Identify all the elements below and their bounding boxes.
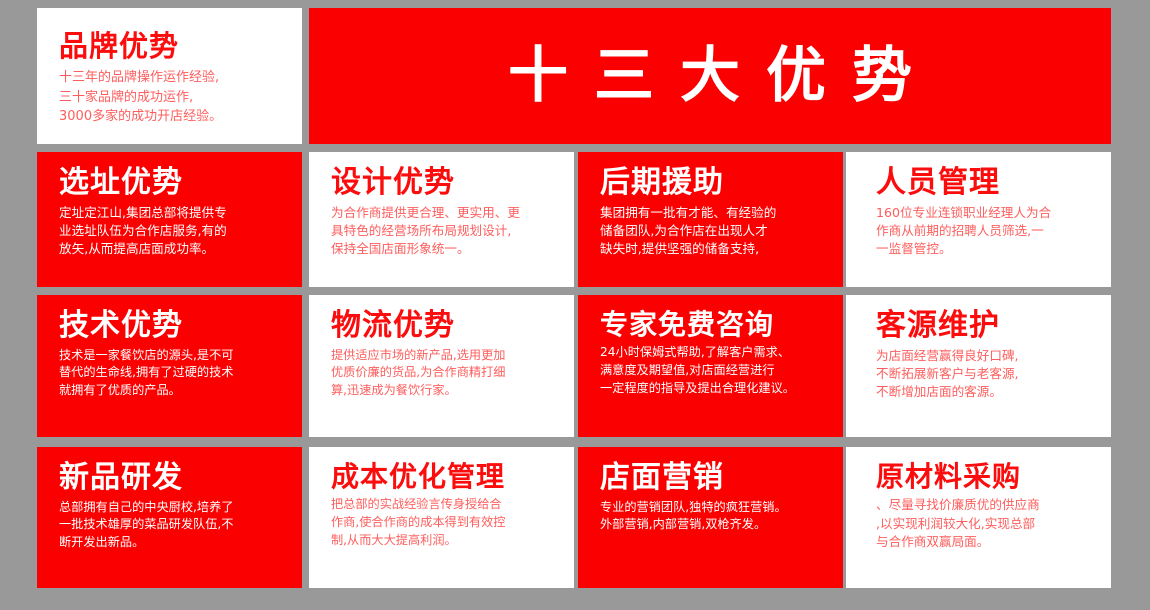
card-body: 24小时保姆式帮助,了解客户需求、 满意度及期望值,对店面经营进行 一定程度的指…: [600, 344, 827, 397]
card-body-line: 十三年的品牌操作运作经验,: [59, 68, 288, 88]
card-body: 为店面经营赢得良好口碑, 不断拓展新客户与老客源, 不断增加店面的客源。: [876, 347, 1095, 402]
card-title: 新品研发: [59, 461, 286, 495]
card-body: 定址定江山,集团总部将提供专 业选址队伍为合作店服务,有的 放矢,从而提高店面成…: [59, 204, 286, 259]
card-body-line: 一批技术雄厚的菜品研发队伍,不: [59, 516, 286, 534]
card-design-advantage[interactable]: 设计优势 为合作商提供更合理、更实用、更 具特色的经营场所布局规划设计, 保持全…: [309, 152, 574, 287]
card-body-line: 就拥有了优质的产品。: [59, 382, 286, 400]
card-body-line: 专业的营销团队,独特的疯狂营销。: [600, 499, 827, 517]
card-technology-advantage[interactable]: 技术优势 技术是一家餐饮店的源头,是不可 替代的生命线,拥有了过硬的技术 就拥有…: [37, 295, 302, 437]
main-banner: 十三大优势: [309, 8, 1111, 144]
card-body-line: 160位专业连锁职业经理人为合: [876, 204, 1095, 222]
card-body-line: 外部营销,内部营销,双枪齐发。: [600, 516, 827, 534]
card-brand-advantage[interactable]: 品牌优势 十三年的品牌操作运作经验, 三十家品牌的成功运作, 3000多家的成功…: [37, 8, 302, 144]
card-body-line: 3000多家的成功开店经验。: [59, 107, 288, 127]
card-body-line: 为合作商提供更合理、更实用、更: [331, 204, 558, 222]
card-customer-source-maintenance[interactable]: 客源维护 为店面经营赢得良好口碑, 不断拓展新客户与老客源, 不断增加店面的客源…: [846, 295, 1111, 437]
card-body: 、尽量寻找价廉质优的供应商 ,以实现利润较大化,实现总部 与合作商双赢局面。: [876, 496, 1095, 551]
card-body-line: 不断拓展新客户与老客源,: [876, 365, 1095, 383]
card-body-line: 制,从而大大提高利润。: [331, 532, 558, 550]
card-body: 专业的营销团队,独特的疯狂营销。 外部营销,内部营销,双枪齐发。: [600, 499, 827, 534]
card-body: 十三年的品牌操作运作经验, 三十家品牌的成功运作, 3000多家的成功开店经验。: [59, 68, 288, 127]
card-title: 设计优势: [331, 166, 558, 200]
card-title: 成本优化管理: [331, 461, 558, 492]
card-body-line: 技术是一家餐饮店的源头,是不可: [59, 347, 286, 365]
card-title: 原材料采购: [876, 461, 1095, 492]
card-body-line: 三十家品牌的成功运作,: [59, 88, 288, 108]
card-body-line: 断开发出新品。: [59, 534, 286, 552]
card-body-line: 与合作商双赢局面。: [876, 533, 1095, 551]
card-body: 总部拥有自己的中央厨校,培养了 一批技术雄厚的菜品研发队伍,不 断开发出新品。: [59, 499, 286, 552]
card-title: 技术优势: [59, 309, 286, 343]
card-new-product-rnd[interactable]: 新品研发 总部拥有自己的中央厨校,培养了 一批技术雄厚的菜品研发队伍,不 断开发…: [37, 447, 302, 588]
card-body-line: 优质价廉的货品,为合作商精打细: [331, 364, 558, 382]
card-title: 人员管理: [876, 166, 1095, 200]
card-body: 把总部的实战经验言传身授给合 作商,使合作商的成本得到有效控 制,从而大大提高利…: [331, 496, 558, 549]
card-expert-free-consulting[interactable]: 专家免费咨询 24小时保姆式帮助,了解客户需求、 满意度及期望值,对店面经营进行…: [578, 295, 843, 437]
card-raw-material-procurement[interactable]: 原材料采购 、尽量寻找价廉质优的供应商 ,以实现利润较大化,实现总部 与合作商双…: [846, 447, 1111, 588]
card-store-marketing[interactable]: 店面营销 专业的营销团队,独特的疯狂营销。 外部营销,内部营销,双枪齐发。: [578, 447, 843, 588]
card-title: 专家免费咨询: [600, 309, 827, 340]
card-site-selection-advantage[interactable]: 选址优势 定址定江山,集团总部将提供专 业选址队伍为合作店服务,有的 放矢,从而…: [37, 152, 302, 287]
card-body-line: 作商,使合作商的成本得到有效控: [331, 514, 558, 532]
card-title: 后期援助: [600, 166, 827, 200]
card-body-line: 满意度及期望值,对店面经营进行: [600, 362, 827, 380]
card-body-line: 总部拥有自己的中央厨校,培养了: [59, 499, 286, 517]
card-body-line: 提供适应市场的新产品,选用更加: [331, 347, 558, 365]
card-body-line: 作商从前期的招聘人员筛选,一: [876, 222, 1095, 240]
card-body-line: 保持全国店面形象统一。: [331, 240, 558, 258]
card-cost-optimization-management[interactable]: 成本优化管理 把总部的实战经验言传身授给合 作商,使合作商的成本得到有效控 制,…: [309, 447, 574, 588]
card-title: 选址优势: [59, 166, 286, 200]
card-body-line: 业选址队伍为合作店服务,有的: [59, 222, 286, 240]
card-body-line: 一定程度的指导及提出合理化建议。: [600, 380, 827, 398]
banner-title: 十三大优势: [482, 46, 938, 106]
card-body: 为合作商提供更合理、更实用、更 具特色的经营场所布局规划设计, 保持全国店面形象…: [331, 204, 558, 259]
card-personnel-management[interactable]: 人员管理 160位专业连锁职业经理人为合 作商从前期的招聘人员筛选,一 一监督管…: [846, 152, 1111, 287]
card-body-line: 把总部的实战经验言传身授给合: [331, 496, 558, 514]
card-title: 品牌优势: [59, 30, 288, 62]
card-body-line: 算,迅速成为餐饮行家。: [331, 382, 558, 400]
card-body-line: 定址定江山,集团总部将提供专: [59, 204, 286, 222]
card-body-line: 、尽量寻找价廉质优的供应商: [876, 496, 1095, 514]
card-title: 客源维护: [876, 309, 1095, 343]
card-body-line: 储备团队,为合作店在出现人才: [600, 222, 827, 240]
card-body: 技术是一家餐饮店的源头,是不可 替代的生命线,拥有了过硬的技术 就拥有了优质的产…: [59, 347, 286, 400]
card-body-line: 替代的生命线,拥有了过硬的技术: [59, 364, 286, 382]
card-later-stage-support[interactable]: 后期援助 集团拥有一批有才能、有经验的 储备团队,为合作店在出现人才 缺失时,提…: [578, 152, 843, 287]
card-body-line: 一监督管控。: [876, 240, 1095, 258]
card-body-line: 不断增加店面的客源。: [876, 383, 1095, 401]
card-body-line: 24小时保姆式帮助,了解客户需求、: [600, 344, 827, 362]
card-title: 物流优势: [331, 309, 558, 343]
card-body-line: 为店面经营赢得良好口碑,: [876, 347, 1095, 365]
card-body: 集团拥有一批有才能、有经验的 储备团队,为合作店在出现人才 缺失时,提供坚强的储…: [600, 204, 827, 259]
card-body: 160位专业连锁职业经理人为合 作商从前期的招聘人员筛选,一 一监督管控。: [876, 204, 1095, 259]
card-body-line: 具特色的经营场所布局规划设计,: [331, 222, 558, 240]
card-title: 店面营销: [600, 461, 827, 495]
card-body-line: ,以实现利润较大化,实现总部: [876, 515, 1095, 533]
card-body-line: 集团拥有一批有才能、有经验的: [600, 204, 827, 222]
card-body-line: 缺失时,提供坚强的储备支持,: [600, 240, 827, 258]
card-body-line: 放矢,从而提高店面成功率。: [59, 240, 286, 258]
card-logistics-advantage[interactable]: 物流优势 提供适应市场的新产品,选用更加 优质价廉的货品,为合作商精打细 算,迅…: [309, 295, 574, 437]
advantages-board: 品牌优势 十三年的品牌操作运作经验, 三十家品牌的成功运作, 3000多家的成功…: [0, 0, 1150, 610]
card-body: 提供适应市场的新产品,选用更加 优质价廉的货品,为合作商精打细 算,迅速成为餐饮…: [331, 347, 558, 400]
